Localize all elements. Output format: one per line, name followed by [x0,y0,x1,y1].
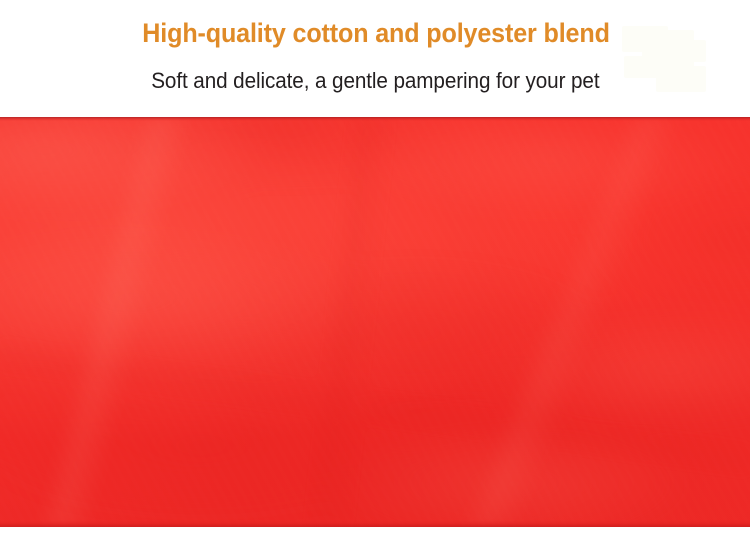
banner-headline: High-quality cotton and polyester blend [27,17,725,49]
product-detail-banner: High-quality cotton and polyester blend … [0,0,750,557]
header-text-band: High-quality cotton and polyester blend … [0,0,750,117]
red-fabric-image [0,117,750,527]
image-bottom-edge [0,520,750,527]
fabric-crease-lines [0,117,750,527]
banner-subheadline: Soft and delicate, a gentle pampering fo… [23,67,728,95]
footer-white-band [0,527,750,557]
image-top-edge [0,117,750,121]
